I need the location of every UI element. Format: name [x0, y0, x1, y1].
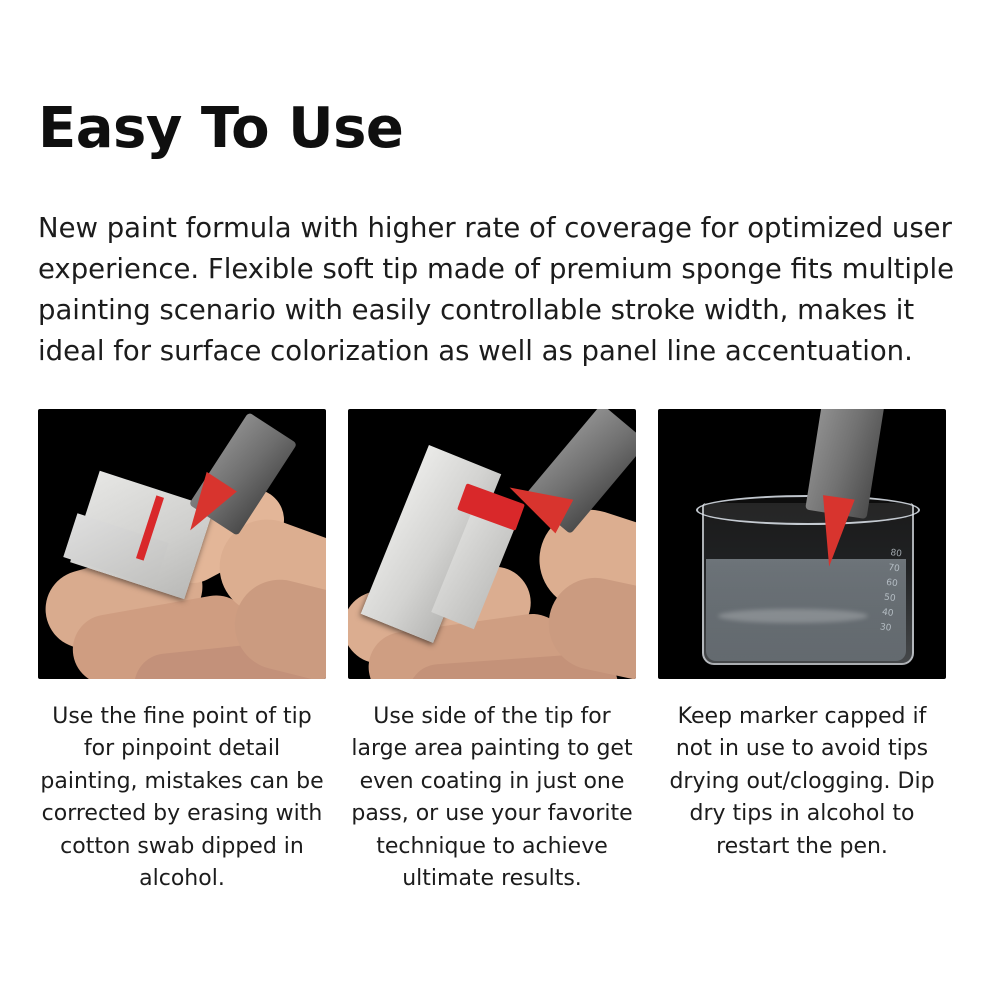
- usage-card: Use the fine point of tip for pinpoint d…: [38, 409, 326, 896]
- card-caption: Keep marker capped if not in use to avoi…: [658, 679, 946, 864]
- usage-cards: Use the fine point of tip for pinpoint d…: [38, 373, 962, 896]
- photo-side-of-tip: [348, 409, 636, 679]
- page-root: Easy To Use New paint formula with highe…: [0, 0, 1000, 1000]
- usage-card: Use side of the tip for large area paint…: [348, 409, 636, 896]
- photo-fine-point: [38, 409, 326, 679]
- usage-card: 80 70 60 50 40 30 Keep marker capped if …: [658, 409, 946, 896]
- intro-paragraph: New paint formula with higher rate of co…: [38, 160, 962, 373]
- card-caption: Use side of the tip for large area paint…: [348, 679, 636, 896]
- photo-beaker-alcohol: 80 70 60 50 40 30: [658, 409, 946, 679]
- page-title: Easy To Use: [38, 0, 962, 160]
- card-caption: Use the fine point of tip for pinpoint d…: [38, 679, 326, 896]
